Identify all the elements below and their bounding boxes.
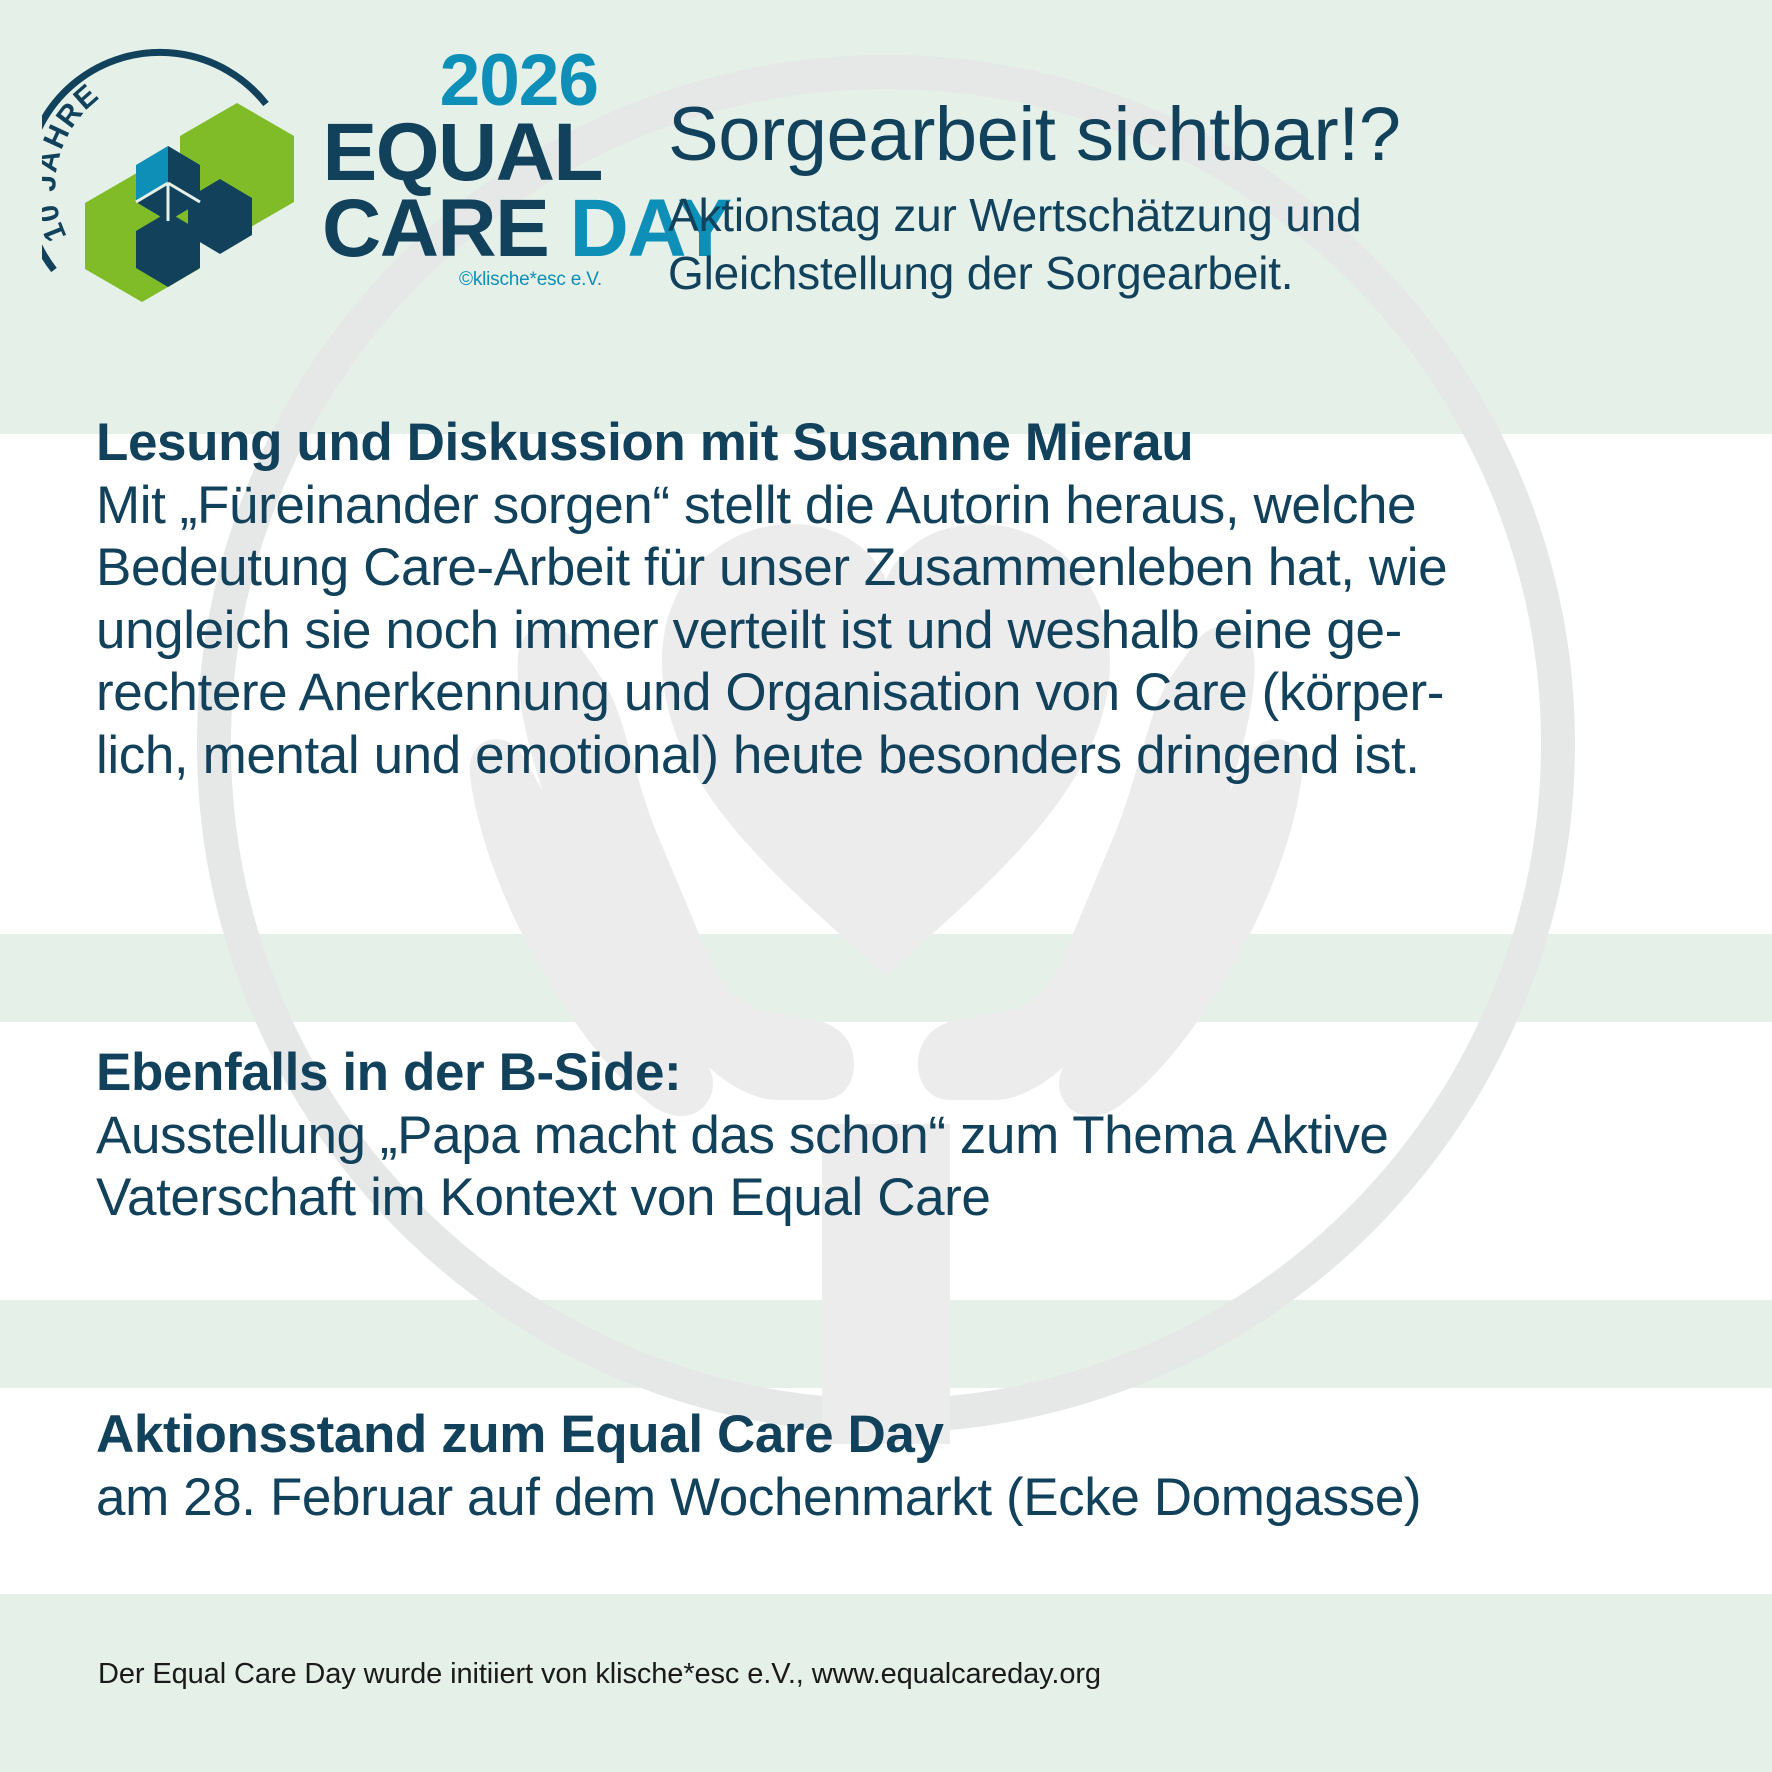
section-body-line: ungleich sie noch immer verteilt ist und… xyxy=(96,600,1696,663)
section-aktionsstand: Aktionsstand zum Equal Care Day am 28. F… xyxy=(96,1404,1696,1529)
poster-canvas: 10 JAHRE xyxy=(0,0,1772,1772)
section-body-line: rechtere Anerkennung und Organisation vo… xyxy=(96,662,1696,725)
page-subtitle-line-1: Aktionstag zur Wertschätzung und xyxy=(668,186,1728,245)
section-body-line: Vaterschaft im Kontext von Equal Care xyxy=(96,1167,1696,1230)
logo-year: 2026 xyxy=(322,46,602,115)
section-body: Mit „Füreinander sorgen“ stellt die Auto… xyxy=(96,475,1696,788)
section-body-line: Ausstellung „Papa macht das schon“ zum T… xyxy=(96,1105,1696,1168)
section-body-line: lich, mental und emotional) heute besond… xyxy=(96,725,1696,788)
separator-band-three xyxy=(0,1300,1772,1388)
logo-word-care: CARE xyxy=(322,183,570,274)
separator-band-two xyxy=(0,934,1772,1022)
header-text-block: Sorgearbeit sichtbar!? Aktionstag zur We… xyxy=(668,96,1728,303)
section-bside: Ebenfalls in der B-Side: Ausstellung „Pa… xyxy=(96,1042,1696,1230)
equal-care-day-logo[interactable]: 10 JAHRE xyxy=(42,42,602,342)
section-heading: Aktionsstand zum Equal Care Day xyxy=(96,1404,1696,1467)
section-body: Ausstellung „Papa macht das schon“ zum T… xyxy=(96,1105,1696,1230)
logo-wordmark: 2026 EQUAL CARE DAY ©klische*esc e.V. xyxy=(322,46,602,291)
section-body-line: Mit „Füreinander sorgen“ stellt die Auto… xyxy=(96,475,1696,538)
page-subtitle-line-2: Gleichstellung der Sorgearbeit. xyxy=(668,244,1728,303)
section-body-line: Bedeutung Care-Arbeit für unser Zusammen… xyxy=(96,537,1696,600)
logo-word-care-day: CARE DAY xyxy=(322,191,602,266)
section-heading: Ebenfalls in der B-Side: xyxy=(96,1042,1696,1105)
page-title: Sorgearbeit sichtbar!? xyxy=(668,96,1728,174)
footer-credit: Der Equal Care Day wurde initiiert von k… xyxy=(98,1658,1101,1691)
page-subtitle: Aktionstag zur Wertschätzung und Gleichs… xyxy=(668,186,1728,304)
section-body-line: am 28. Februar auf dem Wochenmarkt (Ecke… xyxy=(96,1467,1696,1530)
section-heading: Lesung und Diskussion mit Susanne Mierau xyxy=(96,412,1696,475)
section-lesung: Lesung und Diskussion mit Susanne Mierau… xyxy=(96,412,1696,787)
logo-word-equal: EQUAL xyxy=(322,115,602,190)
hexagon-logo-mark: 10 JAHRE xyxy=(42,42,332,342)
section-body: am 28. Februar auf dem Wochenmarkt (Ecke… xyxy=(96,1467,1696,1530)
